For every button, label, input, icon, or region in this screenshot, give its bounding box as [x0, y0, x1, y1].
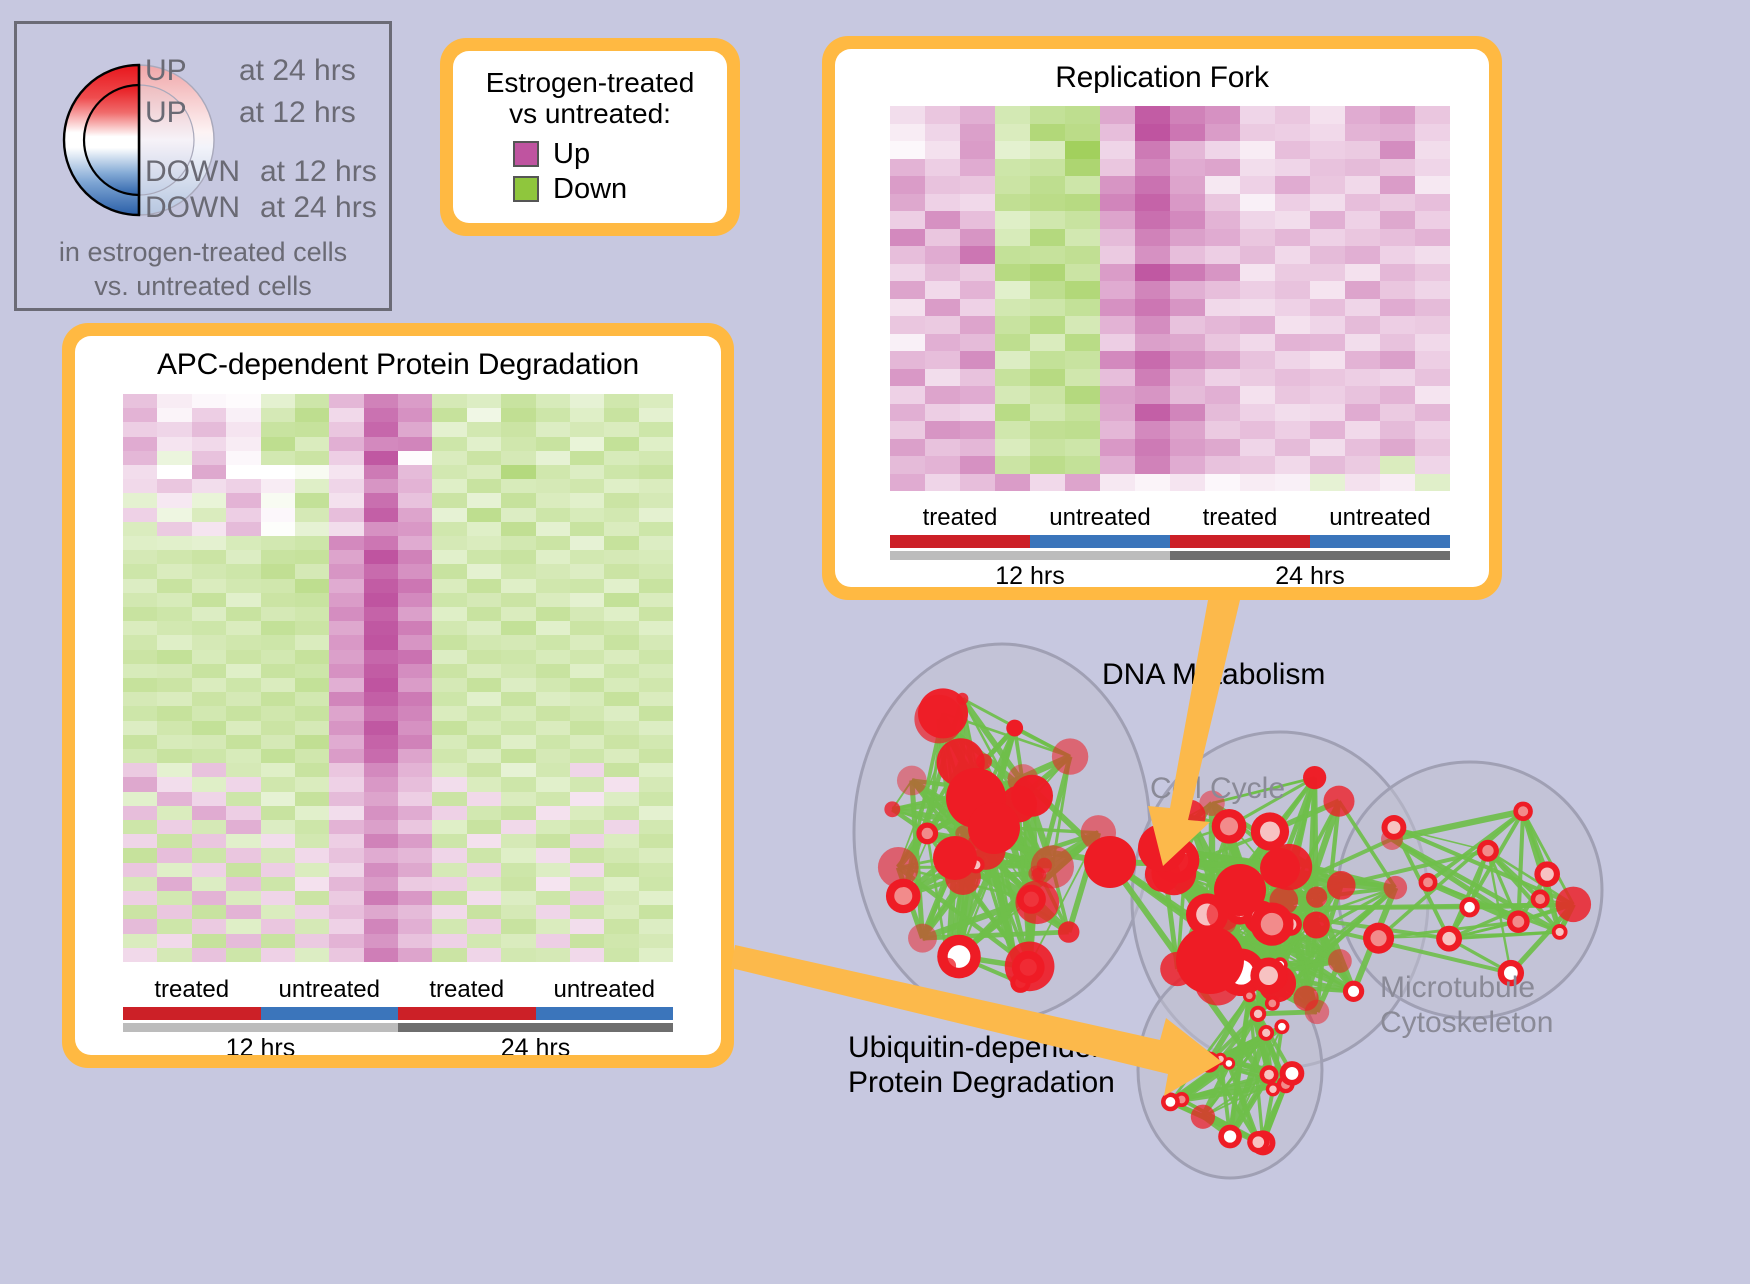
- network-node: [918, 688, 968, 738]
- key-time-0: at 24 hrs: [239, 54, 356, 88]
- network-node: [1303, 766, 1326, 789]
- cond-bar-untreated-24: [536, 1007, 674, 1020]
- network-node-core: [1203, 1056, 1214, 1067]
- legend-label-up: Up: [553, 138, 590, 171]
- network-node-core: [1269, 1086, 1276, 1093]
- network-node-core: [1556, 928, 1564, 936]
- network-node-core: [1264, 1070, 1274, 1080]
- apc-cond-2: treated: [398, 976, 536, 1004]
- apc-time-bar: [123, 1023, 673, 1032]
- network-node-core: [1254, 1010, 1262, 1018]
- replication-fork-title: Replication Fork: [835, 49, 1489, 95]
- fork-time-1: 24 hrs: [1170, 562, 1450, 587]
- network-node: [1084, 836, 1136, 888]
- network-node: [1323, 786, 1354, 817]
- network-node: [968, 802, 1020, 854]
- network-node-core: [1268, 999, 1276, 1007]
- network-node-core: [1224, 1130, 1236, 1142]
- fork-cond-1: untreated: [1030, 504, 1170, 532]
- network-node: [1306, 887, 1327, 908]
- network-node: [1556, 887, 1592, 923]
- network-node-core: [1226, 1060, 1233, 1067]
- network-node: [1015, 880, 1059, 924]
- cluster-label-cell-cycle: Cell Cycle: [1150, 772, 1285, 806]
- apc-cond-1: untreated: [261, 976, 399, 1004]
- network-node: [1293, 986, 1318, 1011]
- network-node-core: [1370, 930, 1386, 946]
- network-node: [1058, 921, 1080, 943]
- network-node-core: [1518, 806, 1528, 816]
- replication-fork-heatmap: [890, 106, 1450, 491]
- network-node: [1176, 926, 1244, 994]
- network-node: [908, 924, 937, 953]
- network-node: [976, 754, 992, 770]
- network-node-core: [1253, 1136, 1265, 1148]
- cond-bar-treated-12: [890, 535, 1030, 548]
- legend-title: Estrogen-treated vs untreated:: [471, 67, 709, 130]
- fork-time-bar: [890, 551, 1450, 560]
- time-bar-24: [1170, 551, 1450, 560]
- network-node-core: [1464, 902, 1475, 913]
- network-node-core: [1535, 894, 1545, 904]
- cond-bar-treated-24: [398, 1007, 536, 1020]
- network-node: [897, 766, 927, 796]
- key-direction-2: DOWN: [145, 155, 240, 189]
- fork-cond-2: treated: [1170, 504, 1310, 532]
- network-node-core: [1512, 916, 1524, 928]
- network-node-core: [1261, 913, 1284, 936]
- fork-time-labels: 12 hrs 24 hrs: [890, 562, 1450, 587]
- legend-title-line2: vs untreated:: [471, 98, 709, 129]
- network-node-core: [1246, 992, 1253, 999]
- cond-bar-untreated-12: [1030, 535, 1170, 548]
- network-node: [1214, 864, 1266, 916]
- cluster-label-ubiquitin-degradation: Ubiquitin-dependent Protein Degradation: [848, 1030, 1117, 1101]
- network-node: [1052, 738, 1088, 774]
- network-node-core: [1423, 877, 1433, 887]
- apc-time-0: 12 hrs: [123, 1034, 398, 1055]
- updown-legend-panel: Estrogen-treated vs untreated: Up Down: [440, 38, 740, 236]
- network-node: [1384, 876, 1408, 900]
- network-node-core: [922, 828, 933, 839]
- network-node: [1328, 949, 1352, 973]
- apc-condition-labels: treated untreated treated untreated: [123, 976, 673, 1004]
- network-node: [933, 836, 977, 880]
- network-node: [1303, 912, 1330, 939]
- key-caption-line1: in estrogen-treated cells: [17, 236, 389, 270]
- fork-cond-3: untreated: [1310, 504, 1450, 532]
- network-node-core: [1166, 1097, 1176, 1107]
- key-time-2: at 12 hrs: [260, 155, 377, 189]
- network-node: [940, 958, 956, 974]
- cond-bar-untreated-12: [261, 1007, 399, 1020]
- pathway-network-diagram: DNA Metabolism Cell Cycle Microtubule Cy…: [780, 600, 1740, 1279]
- apc-degradation-panel: APC-dependent Protein Degradation treate…: [62, 323, 734, 1068]
- network-node-core: [1442, 932, 1455, 945]
- cluster-label-microtubule-cytoskeleton: Microtubule Cytoskeleton: [1380, 970, 1553, 1041]
- apc-heatmap: [123, 394, 673, 962]
- legend-items: Up Down: [471, 138, 709, 206]
- key-direction-1: UP: [145, 96, 187, 130]
- network-node-core: [1259, 966, 1278, 985]
- key-direction-0: UP: [145, 54, 187, 88]
- network-node: [1006, 720, 1023, 737]
- network-svg: [780, 600, 1740, 1279]
- legend-item-up: Up: [513, 138, 709, 171]
- network-node-core: [1541, 867, 1554, 880]
- cond-bar-treated-24: [1170, 535, 1310, 548]
- apc-condition-bar: [123, 1007, 673, 1020]
- cond-bar-untreated-24: [1310, 535, 1450, 548]
- network-node: [1327, 871, 1356, 900]
- replication-fork-panel: Replication Fork treated untreated treat…: [822, 36, 1502, 600]
- time-bar-12: [890, 551, 1170, 560]
- cluster-label-dna-metabolism: DNA Metabolism: [1102, 658, 1325, 692]
- key-caption: in estrogen-treated cells vs. untreated …: [17, 236, 389, 304]
- network-node-core: [1262, 1029, 1270, 1037]
- up-swatch-icon: [513, 141, 539, 167]
- network-node-core: [1220, 817, 1238, 835]
- fork-time-0: 12 hrs: [890, 562, 1170, 587]
- time-bar-12: [123, 1023, 398, 1032]
- network-node-core: [894, 887, 912, 905]
- network-node: [884, 801, 900, 817]
- fork-condition-bar: [890, 535, 1450, 548]
- network-node: [1005, 942, 1055, 992]
- apc-time-labels: 12 hrs 24 hrs: [123, 1034, 673, 1055]
- fork-cond-0: treated: [890, 504, 1030, 532]
- apc-title: APC-dependent Protein Degradation: [75, 336, 721, 382]
- down-swatch-icon: [513, 176, 539, 202]
- network-node: [878, 847, 919, 888]
- expression-color-key: UP at 24 hrs UP at 12 hrs DOWN at 12 hrs…: [14, 21, 392, 311]
- key-caption-line2: vs. untreated cells: [17, 270, 389, 304]
- network-node-core: [1482, 845, 1493, 856]
- legend-label-down: Down: [553, 173, 627, 206]
- network-node-core: [1348, 986, 1359, 997]
- apc-cond-0: treated: [123, 976, 261, 1004]
- apc-time-1: 24 hrs: [398, 1034, 673, 1055]
- network-node-core: [1286, 1067, 1299, 1080]
- network-node: [1028, 866, 1044, 882]
- network-node: [1260, 848, 1300, 888]
- network-node: [1138, 824, 1186, 872]
- apc-cond-3: untreated: [536, 976, 674, 1004]
- key-direction-3: DOWN: [145, 191, 240, 225]
- network-node-core: [1278, 1023, 1286, 1031]
- fork-condition-labels: treated untreated treated untreated: [890, 504, 1450, 532]
- key-time-3: at 24 hrs: [260, 191, 377, 225]
- network-node: [1191, 1105, 1215, 1129]
- legend-item-down: Down: [513, 173, 709, 206]
- cond-bar-treated-12: [123, 1007, 261, 1020]
- time-bar-24: [398, 1023, 673, 1032]
- legend-title-line1: Estrogen-treated: [471, 67, 709, 98]
- network-node-core: [1387, 821, 1400, 834]
- network-node-core: [1260, 822, 1280, 842]
- key-time-1: at 12 hrs: [239, 96, 356, 130]
